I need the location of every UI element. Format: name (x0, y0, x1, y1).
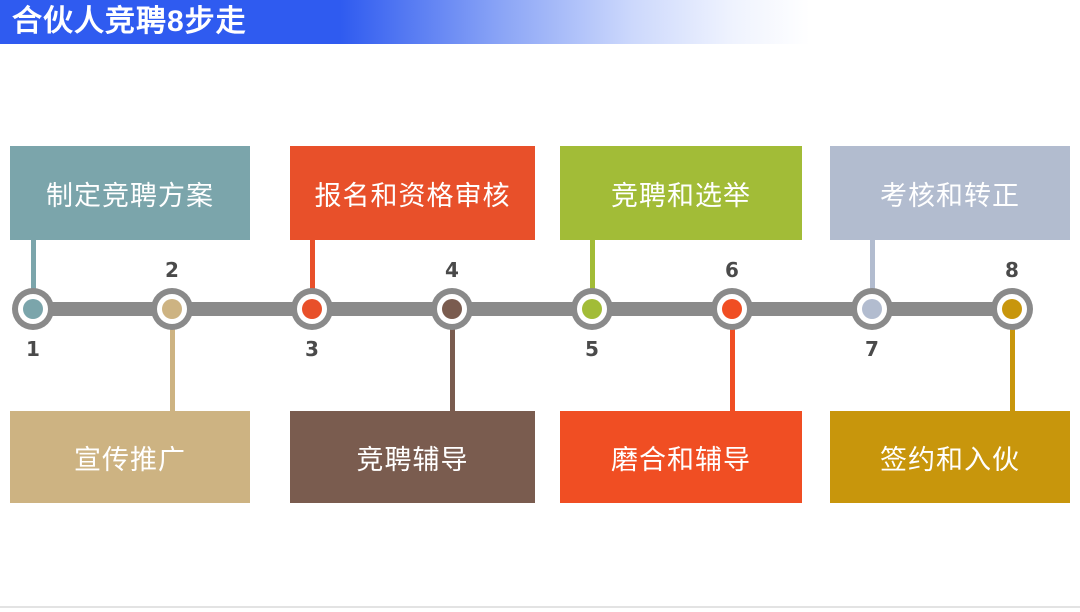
step-number-6: 6 (712, 258, 752, 282)
step-label: 制定竞聘方案 (46, 174, 214, 213)
step-number-8: 8 (992, 258, 1032, 282)
page-title: 合伙人竞聘8步走 (12, 4, 247, 40)
step-box-2[interactable]: 宣传推广 (10, 411, 250, 503)
step-number-3: 3 (292, 337, 332, 361)
step-node-3[interactable] (291, 288, 333, 330)
node-dot (1002, 299, 1022, 319)
step-label: 磨合和辅导 (611, 438, 751, 477)
node-dot (23, 299, 43, 319)
step-node-8[interactable] (991, 288, 1033, 330)
step-label: 签约和入伙 (880, 438, 1020, 477)
step-number-5: 5 (572, 337, 612, 361)
node-dot (162, 299, 182, 319)
footer-divider (0, 606, 1080, 608)
step-node-2[interactable] (151, 288, 193, 330)
step-box-5[interactable]: 竞聘和选举 (560, 146, 802, 240)
step-number-1: 1 (13, 337, 53, 361)
step-number-4: 4 (432, 258, 472, 282)
step-box-4[interactable]: 竞聘辅导 (290, 411, 535, 503)
step-box-6[interactable]: 磨合和辅导 (560, 411, 802, 503)
step-label: 竞聘辅导 (357, 438, 469, 477)
step-box-8[interactable]: 签约和入伙 (830, 411, 1070, 503)
step-node-5[interactable] (571, 288, 613, 330)
step-node-1[interactable] (12, 288, 54, 330)
step-box-3[interactable]: 报名和资格审核 (290, 146, 535, 240)
step-label: 竞聘和选举 (611, 174, 751, 213)
step-number-2: 2 (152, 258, 192, 282)
node-dot (582, 299, 602, 319)
step-label: 考核和转正 (880, 174, 1020, 213)
node-dot (722, 299, 742, 319)
step-number-7: 7 (852, 337, 892, 361)
node-dot (302, 299, 322, 319)
node-dot (862, 299, 882, 319)
step-node-6[interactable] (711, 288, 753, 330)
step-node-4[interactable] (431, 288, 473, 330)
step-label: 报名和资格审核 (315, 174, 511, 213)
step-box-1[interactable]: 制定竞聘方案 (10, 146, 250, 240)
step-label: 宣传推广 (74, 438, 186, 477)
step-node-7[interactable] (851, 288, 893, 330)
step-box-7[interactable]: 考核和转正 (830, 146, 1070, 240)
node-dot (442, 299, 462, 319)
slide-canvas: 合伙人竞聘8步走 制定竞聘方案1宣传推广2报名和资格审核3竞聘辅导4竞聘和选举5… (0, 0, 1080, 612)
